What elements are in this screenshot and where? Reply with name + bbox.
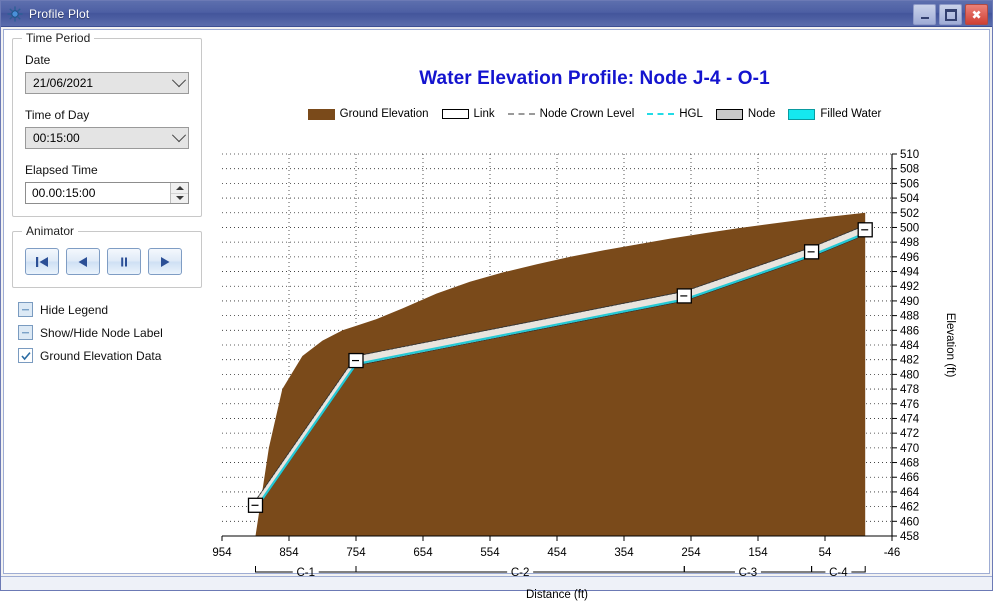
legend-label: Node Crown Level <box>540 108 635 120</box>
profile-plot-icon <box>7 6 23 22</box>
svg-text:506: 506 <box>900 178 919 190</box>
time-of-day-value: 00:15:00 <box>33 131 174 145</box>
svg-text:494: 494 <box>900 267 920 279</box>
svg-text:462: 462 <box>900 502 919 514</box>
pause-icon <box>117 256 131 268</box>
svg-text:468: 468 <box>900 458 919 470</box>
stepper-down-button[interactable] <box>171 193 188 204</box>
checkbox-label: Show/Hide Node Label <box>40 326 163 340</box>
caret-up-icon <box>176 186 184 190</box>
checkbox-label: Ground Elevation Data <box>40 349 161 363</box>
svg-text:496: 496 <box>900 252 919 264</box>
close-icon: ✖ <box>971 9 981 21</box>
close-button[interactable]: ✖ <box>965 4 988 25</box>
stepper-buttons <box>170 183 188 203</box>
legend-item-ground-elevation: Ground Elevation <box>308 108 429 120</box>
step-back-button[interactable] <box>66 248 100 275</box>
date-label: Date <box>25 53 189 67</box>
legend-item-link: Link <box>442 108 495 120</box>
time-of-day-select[interactable]: 00:15:00 <box>25 127 189 149</box>
checkmark-icon <box>21 351 31 361</box>
rewind-to-start-button[interactable] <box>25 248 59 275</box>
legend-label: Filled Water <box>820 108 881 120</box>
svg-text:490: 490 <box>900 296 919 308</box>
svg-text:510: 510 <box>900 149 919 161</box>
svg-text:-46: -46 <box>884 547 901 559</box>
pause-button[interactable] <box>107 248 141 275</box>
svg-text:474: 474 <box>900 413 920 425</box>
svg-text:954: 954 <box>212 547 232 559</box>
elapsed-time-stepper[interactable]: 00.00:15:00 <box>25 182 189 204</box>
maximize-icon <box>945 9 957 21</box>
step-back-icon <box>76 256 90 268</box>
date-select[interactable]: 21/06/2021 <box>25 72 189 94</box>
svg-text:476: 476 <box>900 399 919 411</box>
time-of-day-label: Time of Day <box>25 108 189 122</box>
window-titlebar: Profile Plot ✖ <box>1 1 992 27</box>
svg-text:154: 154 <box>748 547 768 559</box>
window-title: Profile Plot <box>29 7 89 21</box>
svg-text:508: 508 <box>900 164 919 176</box>
caret-down-icon <box>176 196 184 200</box>
legend-swatch-crown <box>508 109 535 120</box>
legend-swatch-node <box>716 109 743 120</box>
svg-text:464: 464 <box>900 487 920 499</box>
sidebar: Time Period Date 21/06/2021 Time of Day … <box>12 38 202 363</box>
maximize-button[interactable] <box>939 4 962 25</box>
checkbox-box <box>18 302 33 317</box>
svg-text:254: 254 <box>681 547 701 559</box>
window-controls: ✖ <box>913 4 988 25</box>
svg-text:458: 458 <box>900 531 919 543</box>
play-icon <box>158 256 172 268</box>
svg-text:354: 354 <box>614 547 634 559</box>
legend-label: Ground Elevation <box>340 108 429 120</box>
svg-text:498: 498 <box>900 237 919 249</box>
svg-text:488: 488 <box>900 311 919 323</box>
checkbox-label: Hide Legend <box>40 303 108 317</box>
time-period-title: Time Period <box>22 31 94 45</box>
svg-text:466: 466 <box>900 472 919 484</box>
legend-swatch-ground <box>308 109 335 120</box>
time-period-group: Time Period Date 21/06/2021 Time of Day … <box>12 38 202 217</box>
svg-text:Elevation (ft): Elevation (ft) <box>944 313 956 378</box>
play-button[interactable] <box>148 248 182 275</box>
legend-swatch-link <box>442 109 469 119</box>
svg-text:754: 754 <box>346 547 366 559</box>
svg-text:486: 486 <box>900 325 919 337</box>
svg-text:504: 504 <box>900 193 920 205</box>
legend-label: Node <box>748 108 776 120</box>
checkbox-box <box>18 325 33 340</box>
chart-legend: Ground Elevation Link Node Crown Level H… <box>204 108 985 120</box>
plot-area: 4584604624644664684704724744764784804824… <box>204 146 985 569</box>
dash-icon <box>21 305 30 314</box>
date-value: 21/06/2021 <box>33 76 174 90</box>
svg-text:492: 492 <box>900 281 919 293</box>
minimize-icon <box>921 17 929 19</box>
stepper-up-button[interactable] <box>171 183 188 193</box>
checkbox-show-hide-node-label[interactable]: Show/Hide Node Label <box>18 325 202 340</box>
checkbox-hide-legend[interactable]: Hide Legend <box>18 302 202 317</box>
svg-text:854: 854 <box>279 547 299 559</box>
svg-text:478: 478 <box>900 384 919 396</box>
animator-title: Animator <box>22 224 78 238</box>
chart-panel: Water Elevation Profile: Node J-4 - O-1 … <box>204 36 985 569</box>
elapsed-time-label: Elapsed Time <box>25 163 189 177</box>
legend-label: Link <box>474 108 495 120</box>
chart-title: Water Elevation Profile: Node J-4 - O-1 <box>204 68 985 90</box>
legend-swatch-water <box>788 109 815 120</box>
svg-text:500: 500 <box>900 222 919 234</box>
checkbox-box <box>18 348 33 363</box>
animator-controls <box>25 248 189 275</box>
profile-plot-svg[interactable]: 4584604624644664684704724744764784804824… <box>204 146 993 616</box>
svg-text:C-1: C-1 <box>296 567 315 579</box>
svg-text:470: 470 <box>900 443 919 455</box>
svg-text:482: 482 <box>900 355 919 367</box>
elapsed-time-value: 00.00:15:00 <box>32 186 170 200</box>
svg-text:54: 54 <box>819 547 832 559</box>
svg-text:C-4: C-4 <box>829 567 848 579</box>
legend-item-hgl: HGL <box>647 108 703 120</box>
animator-group: Animator <box>12 231 202 288</box>
svg-text:472: 472 <box>900 428 919 440</box>
svg-text:454: 454 <box>547 547 567 559</box>
legend-item-filled-water: Filled Water <box>788 108 881 120</box>
svg-text:460: 460 <box>900 516 919 528</box>
chevron-down-icon <box>172 73 186 87</box>
svg-text:654: 654 <box>413 547 433 559</box>
svg-text:C-3: C-3 <box>739 567 758 579</box>
checkbox-ground-elevation-data[interactable]: Ground Elevation Data <box>18 348 202 363</box>
profile-plot-window: Profile Plot ✖ Time Period Date 21/06/20… <box>0 0 993 591</box>
client-area: Time Period Date 21/06/2021 Time of Day … <box>3 29 990 574</box>
svg-text:484: 484 <box>900 340 920 352</box>
legend-swatch-hgl <box>647 109 674 120</box>
dash-icon <box>21 328 30 337</box>
minimize-button[interactable] <box>913 4 936 25</box>
legend-label: HGL <box>679 108 703 120</box>
rewind-to-start-icon <box>35 256 49 268</box>
legend-item-node: Node <box>716 108 776 120</box>
chevron-down-icon <box>172 128 186 142</box>
svg-text:C-2: C-2 <box>511 567 530 579</box>
display-options: Hide Legend Show/Hide Node Label <box>12 302 202 363</box>
svg-text:480: 480 <box>900 369 919 381</box>
legend-item-node-crown-level: Node Crown Level <box>508 108 635 120</box>
svg-text:502: 502 <box>900 208 919 220</box>
svg-text:554: 554 <box>480 547 500 559</box>
